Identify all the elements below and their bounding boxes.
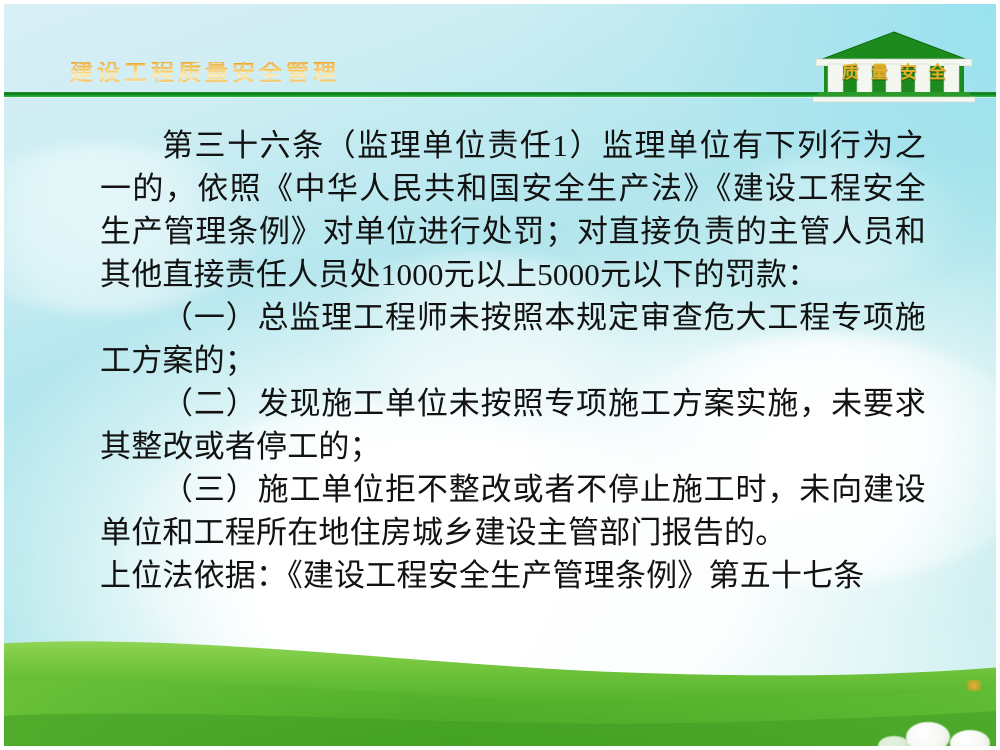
sheep-shape — [906, 722, 950, 746]
paragraph-article-36-intro: 第三十六条（监理单位责任1）监理单位有下列行为之一的，依照《中华人民共和国安全生… — [100, 124, 926, 296]
grass-field — [4, 630, 996, 746]
ground-highlight — [966, 680, 982, 691]
page-title: 建设工程质量安全管理 — [70, 62, 340, 85]
slide: 建设工程质量安全管理 — [0, 0, 1000, 750]
slide-body: 第三十六条（监理单位责任1）监理单位有下列行为之一的，依照《中华人民共和国安全生… — [100, 124, 926, 597]
paragraph-item-3: （三）施工单位拒不整改或者不停止施工时，未向建设单位和工程所在地住房城乡建设主管… — [100, 468, 926, 554]
paragraph-item-2: （二）发现施工单位未按照专项施工方案实施，未要求其整改或者停工的； — [100, 382, 926, 468]
slide-canvas: 建设工程质量安全管理 — [4, 4, 996, 746]
paragraph-item-1: （一）总监理工程师未按照本规定审查危大工程专项施工方案的； — [100, 296, 926, 382]
quality-safety-temple-logo: 质量安全 — [810, 30, 978, 104]
paragraph-legal-basis: 上位法依据：《建设工程安全生产管理条例》第五十七条 — [100, 554, 926, 597]
